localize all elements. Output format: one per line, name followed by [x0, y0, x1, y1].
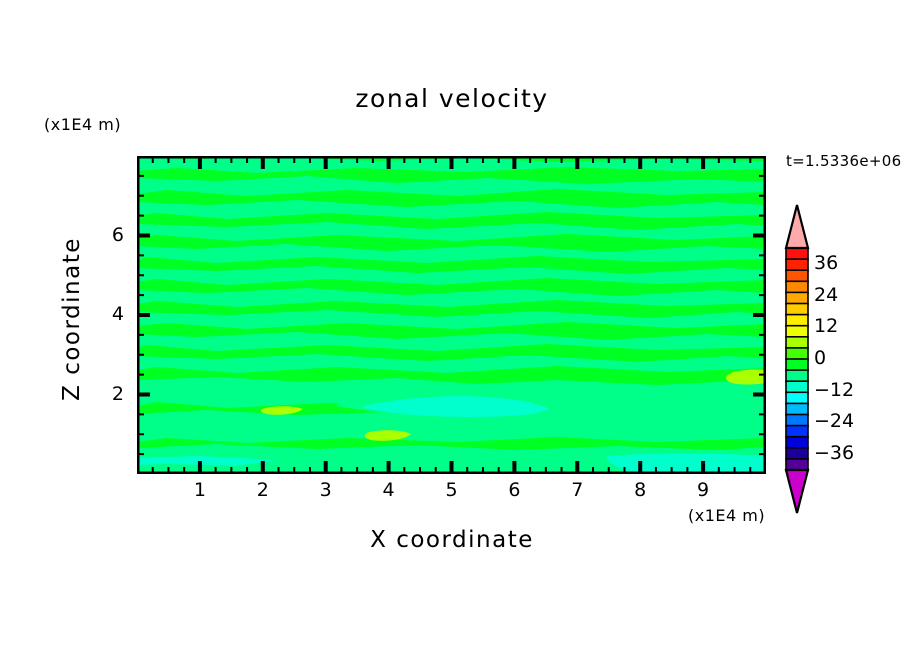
colorbar-tick-label: 12: [814, 315, 874, 337]
colorbar-band: [786, 415, 808, 427]
x-tick-label: 4: [369, 479, 409, 501]
x-axis-title: X coordinate: [0, 527, 904, 553]
colorbar-band: [786, 459, 808, 471]
colorbar-band: [786, 426, 808, 438]
colorbar-band: [786, 248, 808, 260]
colorbar-band: [786, 315, 808, 327]
y-tick-label: 6: [92, 224, 124, 246]
x-tick-label: 2: [243, 479, 283, 501]
x-tick-label: 1: [180, 479, 220, 501]
colorbar-extend-cap: [786, 470, 808, 513]
x-tick-label: 8: [620, 479, 660, 501]
x-tick-label: 7: [557, 479, 597, 501]
colorbar-tick-label: −24: [814, 410, 874, 432]
x-tick-label: 5: [432, 479, 472, 501]
colorbar-band: [786, 359, 808, 371]
colorbar-extend-cap: [786, 205, 808, 248]
y-tick-label: 2: [92, 383, 124, 405]
colorbar-band: [786, 392, 808, 404]
colorbar-band: [786, 337, 808, 349]
colorbar-band: [786, 326, 808, 338]
x-axis-unit-label: (x1E4 m): [688, 506, 765, 525]
colorbar-band: [786, 381, 808, 393]
page-title: zonal velocity: [0, 84, 904, 113]
figure-canvas: zonal velocity (x1E4 m) t=1.5336e+06: [0, 0, 904, 654]
colorbar-band: [786, 348, 808, 360]
x-tick-label: 9: [683, 479, 723, 501]
y-axis-title: Z coordinate: [59, 199, 85, 439]
x-tick-label: 6: [494, 479, 534, 501]
time-annotation: t=1.5336e+06: [786, 152, 901, 170]
colorbar-tick-label: 0: [814, 347, 874, 369]
y-tick-label: 4: [92, 303, 124, 325]
colorbar-band: [786, 403, 808, 415]
colorbar-tick-label: −36: [814, 442, 874, 464]
colorbar-band: [786, 304, 808, 316]
colorbar-band: [786, 270, 808, 282]
colorbar-band: [786, 370, 808, 382]
x-tick-label: 3: [306, 479, 346, 501]
colorbar-tick-label: −12: [814, 379, 874, 401]
y-axis-unit-label: (x1E4 m): [44, 115, 121, 134]
contour-bands: [137, 156, 766, 474]
colorbar-tick-label: 24: [814, 284, 874, 306]
contour-plot-area: [137, 156, 766, 474]
colorbar-tick-label: 36: [814, 252, 874, 274]
colorbar-band: [786, 281, 808, 293]
colorbar-band: [786, 292, 808, 304]
colorbar-band: [786, 437, 808, 449]
colorbar-band: [786, 259, 808, 271]
colorbar-band: [786, 448, 808, 460]
